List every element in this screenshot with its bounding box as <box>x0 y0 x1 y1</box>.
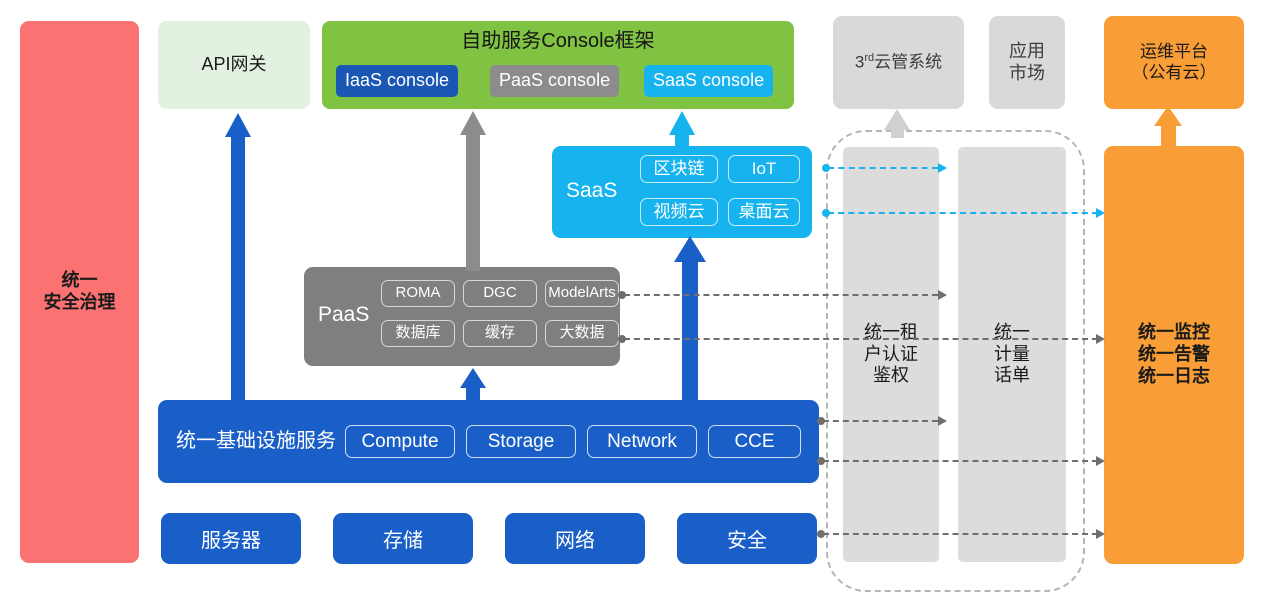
paas-chip-cache[interactable]: 缓存 <box>463 320 537 347</box>
paas-layer-box[interactable]: PaaS ROMA DGC ModelArts 数据库 缓存 大数据 <box>304 267 620 366</box>
console-framework-title: 自助服务Console框架 <box>322 29 794 53</box>
ops-platform-box[interactable]: 运维平台 （公有云） <box>1104 16 1244 109</box>
saas-chip-video-cloud[interactable]: 视频云 <box>640 198 718 226</box>
paas-chip-dgc[interactable]: DGC <box>463 280 537 307</box>
unified-tenant-auth-column[interactable]: 统一租 户认证 鉴权 <box>843 147 939 562</box>
paas-console-chip[interactable]: PaaS console <box>490 65 619 97</box>
unified-billing-column[interactable]: 统一 计量 话单 <box>958 147 1066 562</box>
unified-tenant-auth-label: 统一租 户认证 鉴权 <box>864 322 918 387</box>
unified-billing-label: 统一 计量 话单 <box>994 322 1030 387</box>
third-party-label: 3rd云管系统 <box>855 52 942 73</box>
iaas-chip-storage[interactable]: Storage <box>466 425 576 458</box>
iaas-console-chip[interactable]: IaaS console <box>336 65 458 97</box>
connector-paas-to-ops <box>624 338 1098 340</box>
connector-arrowhead-saas-ops <box>1096 208 1105 218</box>
paas-chip-modelarts[interactable]: ModelArts <box>545 280 619 307</box>
unified-infrastructure-box[interactable]: 统一基础设施服务 Compute Storage Network CCE <box>158 400 819 483</box>
connector-saas-to-ops <box>828 212 1098 214</box>
iaas-chip-cce[interactable]: CCE <box>708 425 801 458</box>
connector-hardware-to-ops <box>823 533 1098 535</box>
console-framework-box[interactable]: 自助服务Console框架 IaaS console PaaS console … <box>322 21 794 109</box>
paas-chip-roma[interactable]: ROMA <box>381 280 455 307</box>
app-market-label: 应用 市场 <box>1009 41 1045 85</box>
security-governance-label: 统一 安全治理 <box>44 270 116 314</box>
security-governance-panel[interactable]: 统一 安全治理 <box>20 21 139 563</box>
iaas-chip-compute[interactable]: Compute <box>345 425 455 458</box>
saas-console-chip[interactable]: SaaS console <box>644 65 773 97</box>
connector-arrowhead-iaas-auth <box>938 416 947 426</box>
connector-iaas-to-ops <box>823 460 1098 462</box>
ops-platform-label: 运维平台 （公有云） <box>1132 42 1217 83</box>
connector-paas-to-auth <box>624 294 938 296</box>
saas-layer-label: SaaS <box>566 178 617 204</box>
unified-monitoring-panel[interactable]: 统一监控 统一告警 统一日志 <box>1104 146 1244 564</box>
connector-arrowhead-iaas-ops <box>1096 456 1105 466</box>
api-gateway-box[interactable]: API网关 <box>158 21 310 109</box>
hardware-box-security[interactable]: 安全 <box>677 513 817 564</box>
third-party-superscript: rd <box>864 52 874 64</box>
saas-layer-box[interactable]: SaaS 区块链 IoT 视频云 桌面云 <box>552 146 812 238</box>
connector-arrowhead-hardware-ops <box>1096 529 1105 539</box>
unified-monitoring-label: 统一监控 统一告警 统一日志 <box>1138 322 1210 388</box>
paas-chip-database[interactable]: 数据库 <box>381 320 455 347</box>
paas-layer-label: PaaS <box>318 302 369 328</box>
connector-iaas-to-auth <box>823 420 938 422</box>
architecture-diagram: 统一 安全治理 API网关 自助服务Console框架 IaaS console… <box>0 0 1265 605</box>
connector-arrowhead-paas-auth <box>938 290 947 300</box>
connector-saas-to-auth <box>828 167 938 169</box>
hardware-box-server[interactable]: 服务器 <box>161 513 301 564</box>
iaas-chip-network[interactable]: Network <box>587 425 697 458</box>
paas-chip-bigdata[interactable]: 大数据 <box>545 320 619 347</box>
hardware-box-storage[interactable]: 存储 <box>333 513 473 564</box>
saas-chip-desktop-cloud[interactable]: 桌面云 <box>728 198 800 226</box>
saas-chip-iot[interactable]: IoT <box>728 155 800 183</box>
api-gateway-label: API网关 <box>201 54 266 76</box>
connector-arrowhead-saas-auth <box>938 163 947 173</box>
connector-arrowhead-paas-ops <box>1096 334 1105 344</box>
unified-infrastructure-label: 统一基础设施服务 <box>176 429 336 453</box>
third-party-cloud-mgmt-box[interactable]: 3rd云管系统 <box>833 16 964 109</box>
hardware-box-network[interactable]: 网络 <box>505 513 645 564</box>
saas-chip-blockchain[interactable]: 区块链 <box>640 155 718 183</box>
app-market-box[interactable]: 应用 市场 <box>989 16 1065 109</box>
